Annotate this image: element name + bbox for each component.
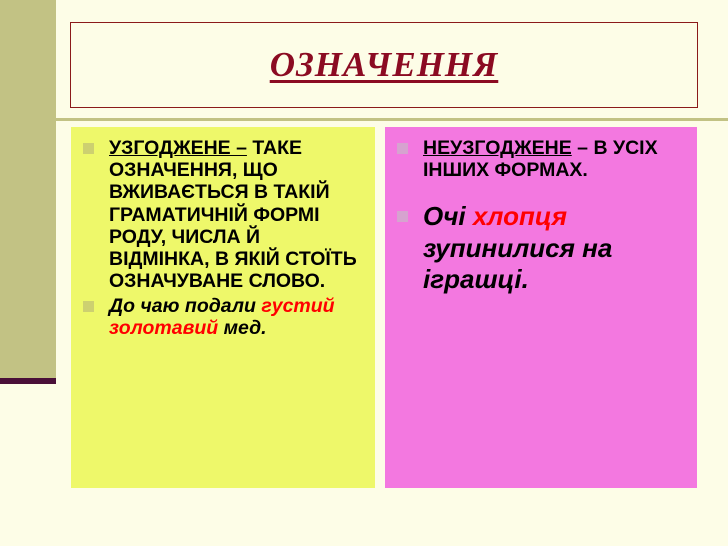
left-decorative-band bbox=[0, 0, 56, 380]
definition-text: УЗГОДЖЕНЕ – ТАКЕ ОЗНАЧЕННЯ, ЩО ВЖИВАЄТЬС… bbox=[109, 137, 357, 292]
slide: ОЗНАЧЕННЯ УЗГОДЖЕНЕ – ТАКЕ ОЗНАЧЕННЯ, ЩО… bbox=[0, 0, 728, 546]
example-plain: До чаю подали bbox=[109, 295, 261, 317]
example-highlight: хлопця bbox=[473, 201, 567, 231]
definition-text: НЕУЗГОДЖЕНЕ – В УСІХ ІНШИХ ФОРМАХ. bbox=[423, 137, 658, 181]
definition-lead: УЗГОДЖЕНЕ – bbox=[109, 137, 247, 159]
list-item: УЗГОДЖЕНЕ – ТАКЕ ОЗНАЧЕННЯ, ЩО ВЖИВАЄТЬС… bbox=[79, 137, 365, 293]
example-tail: мед. bbox=[218, 317, 266, 339]
definition-lead: НЕУЗГОДЖЕНЕ bbox=[423, 137, 572, 159]
definition-body: ТАКЕ ОЗНАЧЕННЯ, ЩО ВЖИВАЄТЬСЯ В ТАКІЙ ГР… bbox=[109, 137, 357, 292]
horizontal-divider bbox=[56, 118, 728, 121]
example-text: До чаю подали густий золотавий мед. bbox=[109, 295, 335, 339]
list-item: НЕУЗГОДЖЕНЕ – В УСІХ ІНШИХ ФОРМАХ. bbox=[393, 137, 687, 181]
right-column: НЕУЗГОДЖЕНЕ – В УСІХ ІНШИХ ФОРМАХ. Очі х… bbox=[385, 127, 697, 488]
example-tail: зупинилися на іграшці. bbox=[423, 233, 612, 294]
bullet-square-icon bbox=[83, 143, 94, 154]
example-plain: Очі bbox=[423, 201, 473, 231]
left-column-list: УЗГОДЖЕНЕ – ТАКЕ ОЗНАЧЕННЯ, ЩО ВЖИВАЄТЬС… bbox=[79, 137, 365, 339]
title-box: ОЗНАЧЕННЯ bbox=[70, 22, 698, 108]
page-title: ОЗНАЧЕННЯ bbox=[270, 45, 499, 85]
right-column-list: НЕУЗГОДЖЕНЕ – В УСІХ ІНШИХ ФОРМАХ. Очі х… bbox=[393, 137, 687, 295]
left-column: УЗГОДЖЕНЕ – ТАКЕ ОЗНАЧЕННЯ, ЩО ВЖИВАЄТЬС… bbox=[71, 127, 375, 488]
example-text: Очі хлопця зупинилися на іграшці. bbox=[423, 201, 612, 293]
bullet-square-icon bbox=[83, 301, 94, 312]
list-item: До чаю подали густий золотавий мед. bbox=[79, 295, 365, 339]
bullet-square-icon bbox=[397, 211, 408, 222]
left-band-lower bbox=[0, 384, 56, 546]
list-item: Очі хлопця зупинилися на іграшці. bbox=[393, 201, 687, 295]
bullet-square-icon bbox=[397, 143, 408, 154]
